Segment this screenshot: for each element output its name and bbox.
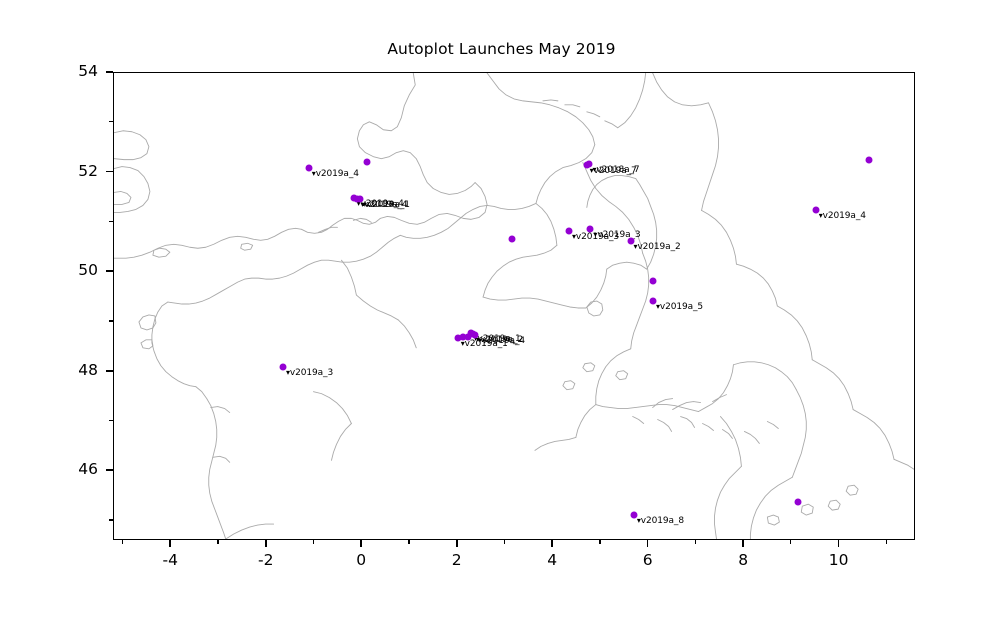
axis-tick (122, 540, 123, 544)
data-point-marker[interactable] (364, 158, 371, 165)
y-axis-tick-label: 46 (38, 460, 98, 478)
axis-tick (169, 540, 171, 547)
data-point-label: ▾v2019a_4 (478, 336, 525, 346)
axis-tick (838, 540, 840, 547)
x-axis-tick-label: 4 (522, 551, 582, 569)
axis-tick (360, 540, 362, 547)
plot-area[interactable]: ▾v2019a_4▾v2019a_4▾v2019a_4▾v2019a_1▾v20… (113, 72, 915, 540)
data-point-label: ▾v2019a_7 (590, 166, 637, 176)
data-point-marker[interactable] (794, 499, 801, 506)
axis-tick (408, 540, 409, 544)
data-point-label: ▾v2019a_4 (819, 211, 866, 221)
axis-tick (456, 540, 458, 547)
data-point-marker[interactable] (508, 235, 515, 242)
axis-tick (695, 540, 696, 544)
axis-tick (106, 469, 113, 471)
axis-tick (790, 540, 791, 544)
axis-tick (313, 540, 314, 544)
axis-tick (109, 221, 113, 222)
figure-canvas: Autoplot Launches May 2019 (0, 0, 1003, 633)
axis-tick (504, 540, 505, 544)
axis-tick (109, 320, 113, 321)
data-point-label: ▾v2019a_3 (286, 368, 333, 378)
axis-tick (742, 540, 744, 547)
x-axis-tick-label: 8 (713, 551, 773, 569)
data-point-marker[interactable] (865, 156, 872, 163)
axis-tick (265, 540, 267, 547)
x-axis-tick-label: 0 (331, 551, 391, 569)
data-point-marker[interactable] (460, 334, 467, 341)
axis-tick (647, 540, 649, 547)
x-axis-tick-label: 10 (809, 551, 869, 569)
axis-tick (106, 171, 113, 173)
data-point-label: ▾v2019a_2 (634, 242, 681, 252)
data-points-layer: ▾v2019a_4▾v2019a_4▾v2019a_4▾v2019a_1▾v20… (114, 73, 914, 539)
axis-tick (599, 540, 600, 544)
axis-tick (886, 540, 887, 544)
data-point-label: ▾v2019a_8 (637, 516, 684, 526)
axis-tick (109, 519, 113, 520)
axis-tick (109, 121, 113, 122)
x-axis-tick-label: 6 (618, 551, 678, 569)
axis-tick (106, 370, 113, 372)
axis-tick (106, 270, 113, 272)
axis-tick (109, 420, 113, 421)
axis-tick (106, 71, 113, 73)
x-axis-tick-label: -2 (236, 551, 296, 569)
y-axis-tick-label: 52 (38, 162, 98, 180)
data-point-label: ▾v2019a_1 (363, 200, 410, 210)
data-point-marker[interactable] (650, 278, 657, 285)
x-axis-tick-label: 2 (427, 551, 487, 569)
x-axis-tick-label: -4 (140, 551, 200, 569)
data-point-label: ▾v2019a_4 (312, 169, 359, 179)
axis-tick (551, 540, 553, 547)
y-axis-tick-label: 48 (38, 361, 98, 379)
axis-tick (217, 540, 218, 544)
data-point-label: ▾v2019a_5 (656, 302, 703, 312)
y-axis-tick-label: 54 (38, 62, 98, 80)
y-axis-tick-label: 50 (38, 261, 98, 279)
page-title: Autoplot Launches May 2019 (0, 40, 1003, 58)
